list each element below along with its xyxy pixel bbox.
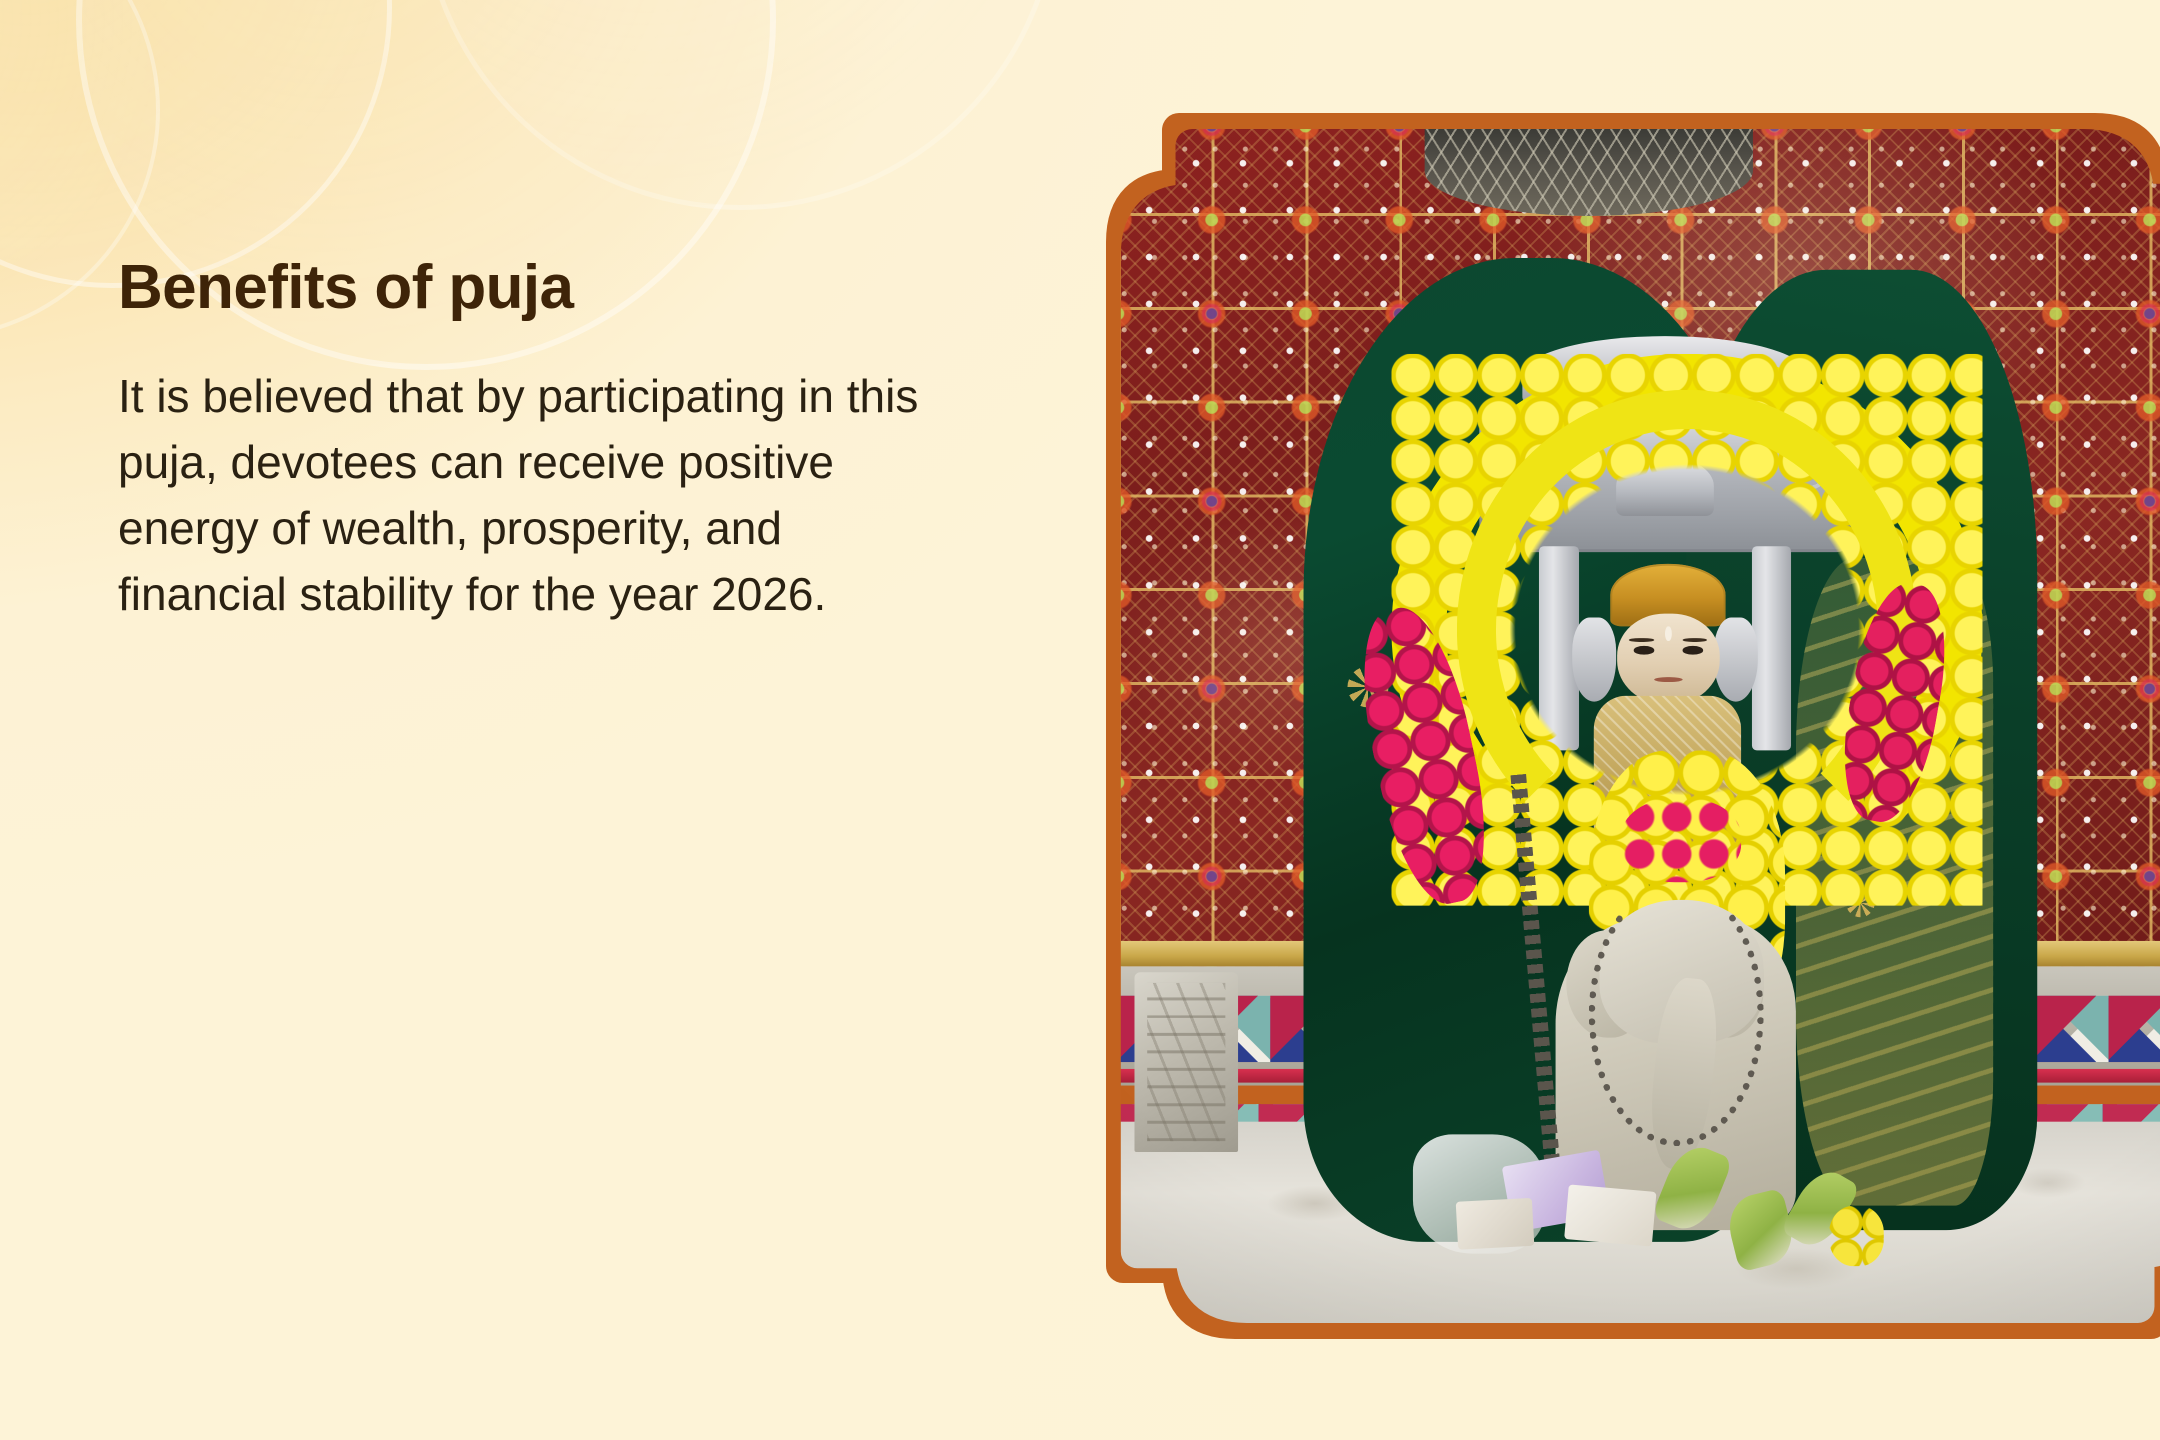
deity-photograph bbox=[1118, 126, 2160, 1326]
photo-scene bbox=[1118, 126, 2160, 1326]
page-title: Benefits of puja bbox=[118, 255, 978, 321]
text-column: Benefits of puja It is believed that by … bbox=[118, 255, 978, 628]
deity-image-card bbox=[1105, 112, 2160, 1340]
photo-vignette bbox=[1118, 126, 2160, 1326]
body-paragraph: It is believed that by participating in … bbox=[118, 363, 958, 628]
